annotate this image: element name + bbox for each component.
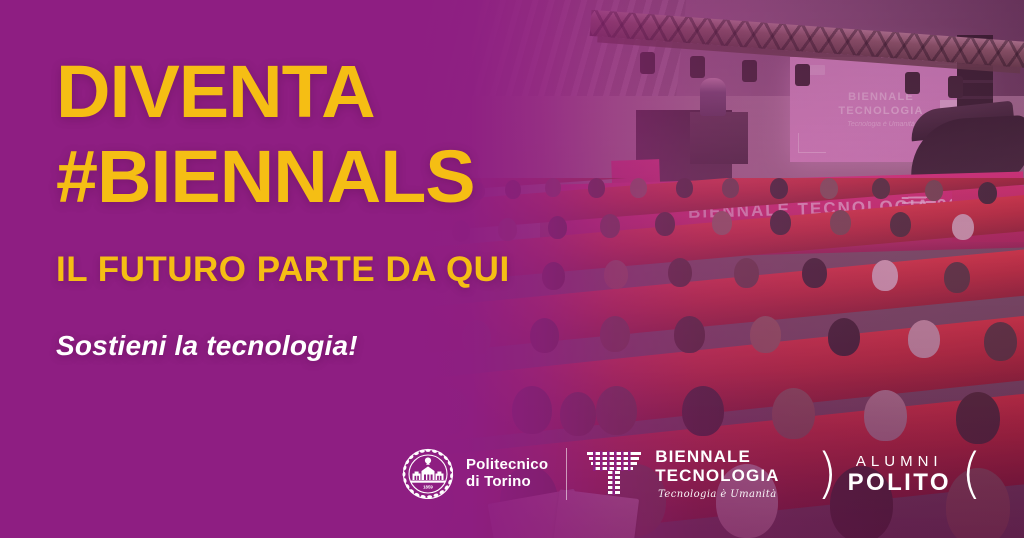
biennale-t-icon (585, 449, 643, 499)
alumni-line1: ALUMNI (848, 453, 951, 470)
biennale-tagline: Tecnologia è Umanità (655, 489, 779, 500)
alumni-line2: POLITO (848, 470, 951, 495)
biennale-line2: TECNOLOGIA (655, 467, 779, 486)
promo-banner: BIENNALE TECNOLOGIA Tecnologia è Umanità… (0, 0, 1024, 538)
biennale-tecnologia-logo[interactable]: BIENNALE TECNOLOGIA Tecnologia è Umanità (567, 438, 797, 510)
crest-year: 1859 (423, 485, 433, 490)
alumni-polito-logo[interactable]: ) ALUMNI POLITO ( (799, 438, 1000, 510)
headline-line-1: DIVENTA (56, 56, 627, 127)
biennale-line1: BIENNALE (655, 448, 779, 467)
logo-strip: 1859 Politecnico di Torino (383, 438, 1000, 510)
alumni-bracket-right-icon: ( (961, 447, 982, 501)
headline-block: DIVENTA #BIENNALS IL FUTURO PARTE DA QUI… (56, 56, 616, 362)
headline-line-2: #BIENNALS (56, 141, 627, 212)
alumni-bracket-left-icon: ) (817, 447, 838, 501)
politecnico-line1: Politecnico (466, 457, 548, 474)
politecnico-line2: di Torino (466, 474, 548, 491)
politecnico-crest-icon: 1859 (401, 447, 455, 501)
politecnico-logo[interactable]: 1859 Politecnico di Torino (383, 438, 566, 510)
call-to-action-tagline: Sostieni la tecnologia! (56, 330, 616, 362)
alumni-wordmark: ALUMNI POLITO (848, 453, 951, 495)
subheadline: IL FUTURO PARTE DA QUI (56, 250, 616, 290)
politecnico-wordmark: Politecnico di Torino (466, 457, 548, 491)
biennale-wordmark: BIENNALE TECNOLOGIA Tecnologia è Umanità (655, 448, 779, 499)
